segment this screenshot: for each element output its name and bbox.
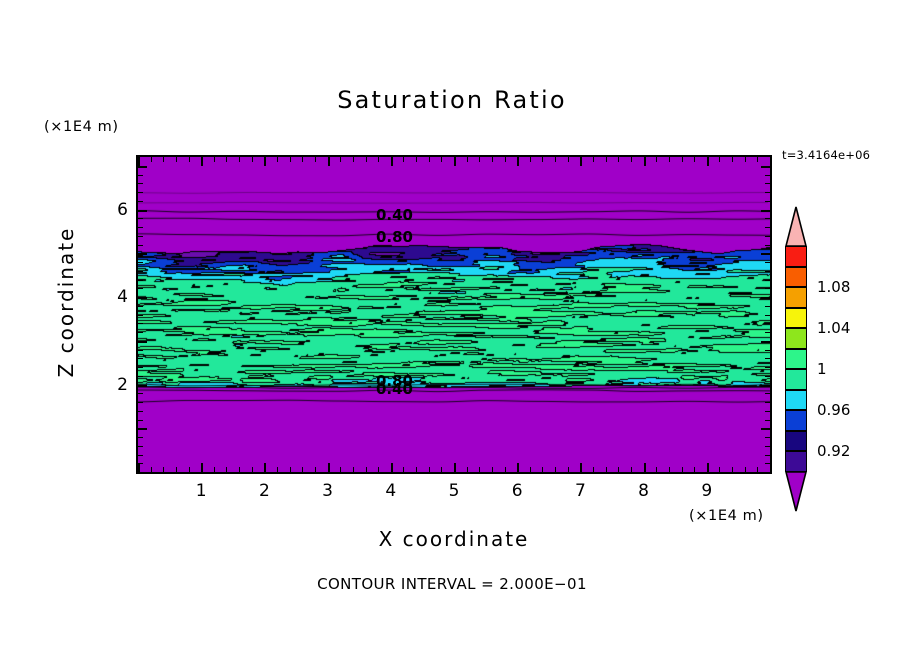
tick-mark [765, 402, 770, 403]
tick-mark [403, 157, 404, 162]
tick-mark [765, 183, 770, 184]
tick-mark [391, 157, 393, 166]
tick-mark [732, 157, 733, 162]
tick-mark [761, 385, 770, 387]
x-tick-label: 2 [259, 481, 270, 501]
tick-mark [239, 467, 240, 472]
tick-mark [542, 157, 543, 162]
tick-mark [138, 367, 143, 368]
tick-mark [765, 367, 770, 368]
tick-mark [138, 297, 147, 299]
tick-mark [467, 467, 468, 472]
tick-mark [765, 218, 770, 219]
tick-mark [765, 245, 770, 246]
tick-mark [315, 467, 316, 472]
tick-mark [492, 157, 493, 162]
tick-mark [719, 157, 720, 162]
tick-mark [138, 428, 147, 430]
tick-mark [593, 157, 594, 162]
tick-mark [745, 467, 746, 472]
saturation-field-raster [138, 157, 770, 472]
tick-mark [176, 157, 177, 162]
tick-mark [770, 157, 772, 166]
tick-mark [593, 467, 594, 472]
tick-mark [163, 157, 164, 162]
tick-mark [138, 210, 147, 212]
tick-mark [517, 157, 519, 166]
colorbar-under-cap [785, 472, 807, 512]
tick-mark [505, 467, 506, 472]
colorbar-cell[interactable] [785, 390, 807, 411]
tick-mark [189, 157, 190, 162]
tick-mark [239, 157, 240, 162]
tick-mark [214, 157, 215, 162]
tick-mark [765, 271, 770, 272]
x-axis-title: X coordinate [136, 527, 772, 551]
tick-mark [353, 157, 354, 162]
tick-mark [669, 157, 670, 162]
contour-label: 0.40 [376, 382, 413, 397]
tick-mark [719, 467, 720, 472]
tick-mark [745, 157, 746, 162]
tick-mark [226, 467, 227, 472]
tick-mark [328, 463, 330, 472]
tick-mark [138, 183, 143, 184]
tick-mark [580, 463, 582, 472]
tick-mark [138, 166, 147, 168]
tick-mark [606, 467, 607, 472]
contour-label: 0.80 [376, 230, 413, 245]
tick-mark [530, 157, 531, 162]
tick-mark [138, 455, 143, 456]
tick-mark [765, 455, 770, 456]
y-tick-label: 4 [108, 287, 128, 307]
tick-mark [669, 467, 670, 472]
tick-mark [163, 467, 164, 472]
tick-mark [765, 201, 770, 202]
tick-mark [454, 463, 456, 472]
timestamp-label: t=3.4164e+06 [782, 148, 870, 162]
tick-mark [765, 323, 770, 324]
tick-mark [765, 175, 770, 176]
tick-mark [189, 467, 190, 472]
tick-mark [765, 446, 770, 447]
tick-mark [290, 467, 291, 472]
tick-mark [366, 467, 367, 472]
tick-mark [302, 157, 303, 162]
tick-mark [302, 467, 303, 472]
tick-mark [429, 467, 430, 472]
tick-mark [138, 192, 143, 193]
tick-mark [340, 157, 341, 162]
tick-mark [517, 463, 519, 472]
tick-mark [694, 157, 695, 162]
colorbar-cell[interactable] [785, 287, 807, 308]
tick-mark [707, 463, 709, 472]
tick-mark [732, 467, 733, 472]
tick-mark [765, 227, 770, 228]
tick-mark [765, 358, 770, 359]
tick-mark [765, 332, 770, 333]
tick-mark [765, 306, 770, 307]
tick-mark [770, 463, 772, 472]
tick-mark [757, 467, 758, 472]
tick-mark [765, 315, 770, 316]
tick-mark [606, 157, 607, 162]
x-tick-label: 4 [385, 481, 396, 501]
tick-mark [176, 467, 177, 472]
tick-mark [765, 393, 770, 394]
tick-mark [138, 253, 147, 255]
tick-mark [138, 332, 143, 333]
colorbar-cell[interactable] [785, 451, 807, 472]
tick-mark [765, 411, 770, 412]
tick-mark [403, 467, 404, 472]
tick-mark [201, 463, 203, 472]
tick-mark [761, 341, 770, 343]
x-tick-label: 3 [322, 481, 333, 501]
tick-mark [138, 446, 143, 447]
tick-mark [530, 467, 531, 472]
tick-mark [492, 467, 493, 472]
tick-mark [441, 467, 442, 472]
tick-mark [761, 297, 770, 299]
tick-mark [765, 280, 770, 281]
tick-mark [644, 157, 646, 166]
tick-mark [138, 437, 143, 438]
tick-mark [580, 157, 582, 166]
tick-mark [138, 411, 143, 412]
tick-mark [290, 157, 291, 162]
tick-mark [765, 288, 770, 289]
tick-mark [328, 157, 330, 166]
x-tick-label: 5 [449, 481, 460, 501]
tick-mark [138, 245, 143, 246]
tick-mark [340, 467, 341, 472]
tick-mark [765, 236, 770, 237]
tick-mark [138, 157, 140, 166]
colorbar-cell[interactable] [785, 369, 807, 390]
tick-mark [761, 166, 770, 168]
tick-mark [138, 341, 147, 343]
z-axis-unit-label: (×1E4 m) [44, 119, 119, 135]
tick-mark [694, 467, 695, 472]
y-axis-title: Z coordinate [54, 212, 78, 392]
colorbar-tick-label: 1.08 [817, 278, 850, 296]
tick-mark [226, 157, 227, 162]
colorbar-cell[interactable] [785, 328, 807, 349]
colorbar-tick-label: 1.04 [817, 319, 850, 337]
contour-plot-area[interactable]: 0.400.800.800.40 [136, 155, 772, 474]
tick-mark [214, 467, 215, 472]
tick-mark [765, 192, 770, 193]
colorbar-cell[interactable] [785, 308, 807, 329]
tick-mark [138, 218, 143, 219]
tick-mark [761, 428, 770, 430]
y-tick-label: 2 [108, 375, 128, 395]
tick-mark [429, 157, 430, 162]
tick-mark [138, 350, 143, 351]
tick-mark [555, 467, 556, 472]
tick-mark [138, 402, 143, 403]
tick-mark [656, 157, 657, 162]
tick-mark [138, 306, 143, 307]
tick-mark [138, 420, 143, 421]
tick-mark [378, 467, 379, 472]
x-tick-label: 6 [512, 481, 523, 501]
tick-mark [707, 157, 709, 166]
contour-label: 0.40 [376, 208, 413, 223]
colorbar-cell[interactable] [785, 246, 807, 267]
tick-mark [138, 201, 143, 202]
y-tick-label: 6 [108, 200, 128, 220]
tick-mark [138, 463, 143, 464]
tick-mark [315, 157, 316, 162]
tick-mark [765, 262, 770, 263]
contour-interval-note: CONTOUR INTERVAL = 2.000E−01 [0, 575, 904, 593]
tick-mark [138, 175, 143, 176]
tick-mark [138, 227, 143, 228]
tick-mark [479, 467, 480, 472]
tick-mark [151, 467, 152, 472]
tick-mark [138, 376, 143, 377]
tick-mark [757, 157, 758, 162]
tick-mark [252, 467, 253, 472]
tick-mark [416, 157, 417, 162]
tick-mark [454, 157, 456, 166]
tick-mark [631, 467, 632, 472]
tick-mark [264, 157, 266, 166]
tick-mark [467, 157, 468, 162]
tick-mark [366, 157, 367, 162]
tick-mark [765, 376, 770, 377]
colorbar-cell[interactable] [785, 349, 807, 370]
tick-mark [138, 463, 140, 472]
colorbar-cell[interactable] [785, 431, 807, 452]
x-tick-label: 9 [701, 481, 712, 501]
tick-mark [277, 157, 278, 162]
tick-mark [416, 467, 417, 472]
tick-mark [765, 437, 770, 438]
tick-mark [252, 157, 253, 162]
x-tick-label: 8 [638, 481, 649, 501]
colorbar-cell[interactable] [785, 410, 807, 431]
tick-mark [644, 463, 646, 472]
colorbar-over-cap [785, 206, 807, 246]
colorbar-cell[interactable] [785, 267, 807, 288]
tick-mark [618, 157, 619, 162]
tick-mark [618, 467, 619, 472]
tick-mark [568, 467, 569, 472]
tick-mark [542, 467, 543, 472]
tick-mark [765, 350, 770, 351]
tick-mark [138, 236, 143, 237]
tick-mark [479, 157, 480, 162]
tick-mark [138, 472, 147, 474]
tick-mark [138, 280, 143, 281]
x-axis-unit-label: (×1E4 m) [689, 508, 764, 524]
tick-mark [138, 358, 143, 359]
tick-mark [151, 157, 152, 162]
tick-mark [138, 393, 143, 394]
tick-mark [138, 385, 147, 387]
tick-mark [264, 463, 266, 472]
tick-mark [353, 467, 354, 472]
tick-mark [505, 157, 506, 162]
tick-mark [555, 157, 556, 162]
colorbar-tick-label: 1 [817, 360, 827, 378]
tick-mark [765, 463, 770, 464]
tick-mark [138, 323, 143, 324]
tick-mark [761, 210, 770, 212]
tick-mark [761, 253, 770, 255]
page-title: Saturation Ratio [0, 86, 904, 114]
colorbar[interactable]: 1.081.0410.960.92 [785, 206, 807, 512]
tick-mark [761, 472, 770, 474]
tick-mark [441, 157, 442, 162]
tick-mark [656, 467, 657, 472]
tick-mark [378, 157, 379, 162]
tick-mark [277, 467, 278, 472]
tick-mark [765, 420, 770, 421]
colorbar-tick-label: 0.96 [817, 401, 850, 419]
tick-mark [138, 315, 143, 316]
tick-mark [631, 157, 632, 162]
tick-mark [201, 157, 203, 166]
tick-mark [568, 157, 569, 162]
x-tick-label: 7 [575, 481, 586, 501]
colorbar-tick-label: 0.92 [817, 442, 850, 460]
tick-mark [682, 157, 683, 162]
tick-mark [682, 467, 683, 472]
tick-mark [138, 288, 143, 289]
tick-mark [138, 271, 143, 272]
tick-mark [391, 463, 393, 472]
x-tick-label: 1 [196, 481, 207, 501]
tick-mark [138, 262, 143, 263]
